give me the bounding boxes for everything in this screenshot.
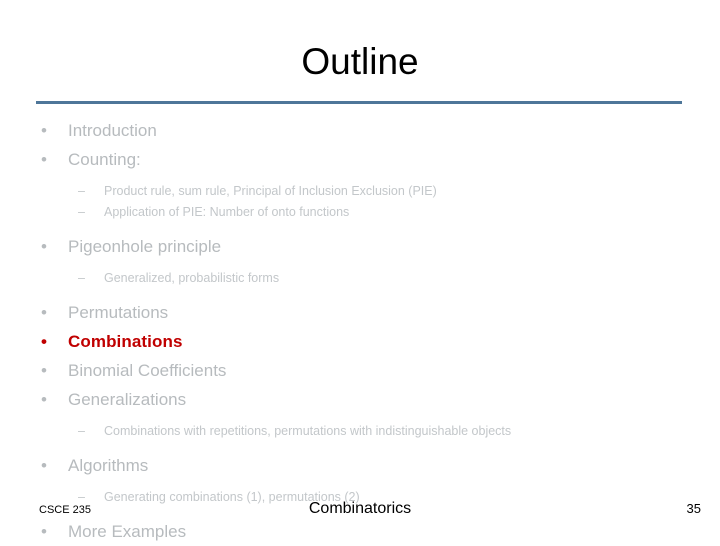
bullet-dash-icon: –	[78, 268, 85, 289]
title-divider-rule	[36, 101, 682, 104]
outline-item-label: Algorithms	[68, 456, 148, 475]
spacer	[0, 480, 720, 487]
outline-item: •Counting:	[0, 145, 720, 174]
outline-item-label: Generalized, probabilistic forms	[104, 271, 279, 285]
bullet-dot-icon: •	[41, 116, 47, 145]
bullet-dot-icon: •	[41, 232, 47, 261]
slide-canvas: Outline •Introduction•Counting:–Product …	[0, 0, 720, 540]
outline-item-label: Counting:	[68, 150, 141, 169]
spacer	[0, 261, 720, 268]
outline-item-label: Permutations	[68, 303, 168, 322]
outline-subitem: –Generalized, probabilistic forms	[0, 268, 720, 289]
bullet-dash-icon: –	[78, 181, 85, 202]
bullet-dot-icon: •	[41, 385, 47, 414]
outline-item-label: Application of PIE: Number of onto funct…	[104, 205, 349, 219]
outline-item: •Algorithms	[0, 451, 720, 480]
outline-subitem: –Combinations with repetitions, permutat…	[0, 421, 720, 442]
outline-item: •Generalizations	[0, 385, 720, 414]
outline-item-label: Combinations	[68, 332, 183, 351]
outline-item-label: Product rule, sum rule, Principal of Inc…	[104, 184, 437, 198]
outline-subitem: –Product rule, sum rule, Principal of In…	[0, 181, 720, 202]
spacer	[0, 174, 720, 181]
spacer	[0, 414, 720, 421]
outline-item-label: Binomial Coefficients	[68, 361, 226, 380]
footer-page-number: 35	[687, 500, 701, 518]
bullet-dot-icon: •	[41, 356, 47, 385]
outline-item-label: Introduction	[68, 121, 157, 140]
page-title: Outline	[0, 40, 720, 84]
outline-subitem: –Application of PIE: Number of onto func…	[0, 202, 720, 223]
spacer	[0, 223, 720, 232]
bullet-dot-icon: •	[41, 451, 47, 480]
outline-item-label: Pigeonhole principle	[68, 237, 221, 256]
outline-item: •Introduction	[0, 116, 720, 145]
spacer	[0, 442, 720, 451]
outline-item: •Permutations	[0, 298, 720, 327]
slide-footer: CSCE 235 Combinatorics 35	[0, 498, 720, 526]
bullet-dot-icon: •	[41, 298, 47, 327]
outline-item: •Combinations	[0, 327, 720, 356]
spacer	[0, 289, 720, 298]
bullet-dot-icon: •	[41, 145, 47, 174]
outline-list: •Introduction•Counting:–Product rule, su…	[0, 116, 720, 546]
outline-item-label: Generalizations	[68, 390, 186, 409]
bullet-dash-icon: –	[78, 202, 85, 223]
outline-item: •Binomial Coefficients	[0, 356, 720, 385]
bullet-dash-icon: –	[78, 421, 85, 442]
bullet-dot-icon: •	[41, 327, 47, 356]
outline-item: •Pigeonhole principle	[0, 232, 720, 261]
footer-topic-label: Combinatorics	[0, 498, 720, 520]
outline-item-label: Combinations with repetitions, permutati…	[104, 424, 511, 438]
